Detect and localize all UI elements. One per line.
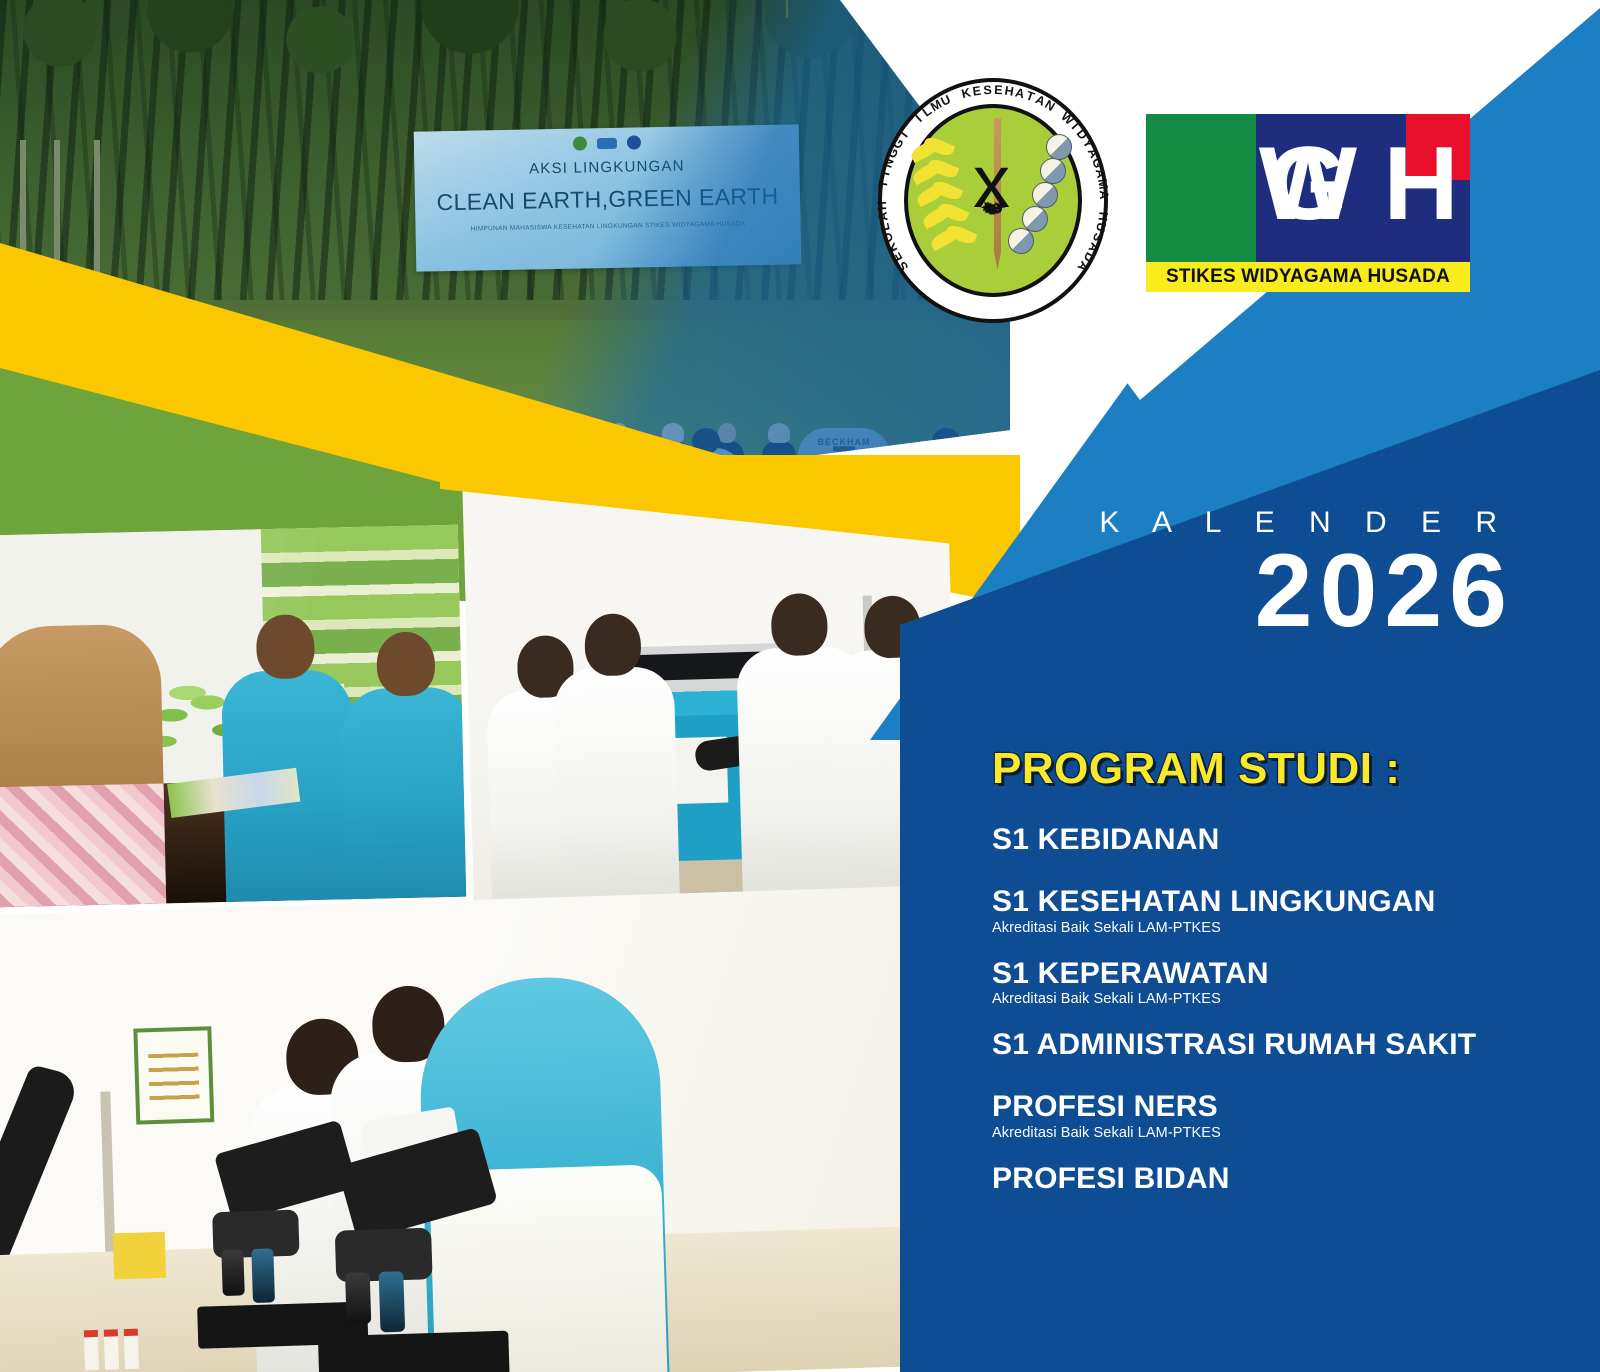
program-name: S1 KEPERAWATAN <box>992 958 1552 990</box>
banner-line-1: AKSI LINGKUNGAN <box>414 155 799 179</box>
program-studi-section: PROGRAM STUDI : S1 KEBIDANANS1 KESEHATAN… <box>992 744 1552 1225</box>
wgh-block-w: W <box>1146 114 1256 262</box>
banner-line-3: HIMPUNAN MAHASISWA KESEHATAN LINGKUNGAN … <box>415 218 800 235</box>
program-item: S1 KEBIDANAN <box>992 824 1552 856</box>
program-list: S1 KEBIDANANS1 KESEHATAN LINGKUNGANAkred… <box>992 824 1552 1195</box>
test-tube-2 <box>104 1329 119 1369</box>
test-tube-3 <box>124 1329 139 1369</box>
program-name: PROFESI NERS <box>992 1091 1552 1123</box>
wgh-block-h: H <box>1372 114 1470 262</box>
consultation-photo: DU <box>0 525 466 908</box>
yellow-apparatus <box>113 1232 166 1280</box>
staff-member-2 <box>341 686 466 899</box>
calendar-cover: AKSI LINGKUNGAN CLEAN EARTH,GREEN EARTH … <box>0 0 1600 1372</box>
program-accreditation: Akreditasi Baik Sekali LAM-PTKES <box>992 920 1552 936</box>
program-item: PROFESI BIDAN <box>992 1163 1552 1195</box>
banner-logos <box>414 130 799 155</box>
program-name: PROFESI BIDAN <box>992 1163 1552 1195</box>
visitor-in-hijab <box>0 623 166 907</box>
wgh-letter-h: H <box>1383 132 1458 236</box>
program-name: S1 KEBIDANAN <box>992 824 1552 856</box>
crop-mark <box>786 0 788 18</box>
program-studi-heading: PROGRAM STUDI : <box>992 744 1552 794</box>
jersey-name: BECKHAM <box>798 436 890 450</box>
seal-bottom-text: ★ MALANG ★ <box>878 78 1108 323</box>
program-item: S1 KESEHATAN LINGKUNGANAkreditasi Baik S… <box>992 886 1552 936</box>
institution-seal-logo: x SEKOLAH TINGGI ILMU KESEHATAN WIDYAGAM… <box>878 78 1108 323</box>
lab-student-2 <box>554 666 681 904</box>
microscope-photo <box>0 885 964 1372</box>
event-banner: AKSI LINGKUNGAN CLEAN EARTH,GREEN EARTH … <box>414 124 802 271</box>
program-item: S1 ADMINISTRASI RUMAH SAKIT <box>992 1029 1552 1061</box>
wall-certificate <box>133 1026 214 1124</box>
test-tube-1 <box>84 1330 99 1370</box>
program-accreditation: Akreditasi Baik Sekali LAM-PTKES <box>992 991 1552 1007</box>
program-accreditation: Akreditasi Baik Sekali LAM-PTKES <box>992 1125 1552 1141</box>
program-name: S1 KESEHATAN LINGKUNGAN <box>992 886 1552 918</box>
microscope-2 <box>312 1143 510 1372</box>
wgh-letter-g: G <box>1268 132 1349 236</box>
wgh-name-strip: STIKES WIDYAGAMA HUSADA <box>1146 262 1470 292</box>
calendar-title-block: K A L E N D E R 2026 <box>1099 506 1514 642</box>
wgh-letter-blocks: W G H <box>1146 114 1470 262</box>
banner-line-2: CLEAN EARTH,GREEN EARTH <box>415 182 800 216</box>
calendar-year: 2026 <box>1099 542 1514 642</box>
program-item: PROFESI NERSAkreditasi Baik Sekali LAM-P… <box>992 1091 1552 1141</box>
program-item: S1 KEPERAWATANAkreditasi Baik Sekali LAM… <box>992 958 1552 1008</box>
program-name: S1 ADMINISTRASI RUMAH SAKIT <box>992 1029 1552 1061</box>
wgh-logo: W G H STIKES WIDYAGAMA HUSADA <box>1146 114 1470 292</box>
